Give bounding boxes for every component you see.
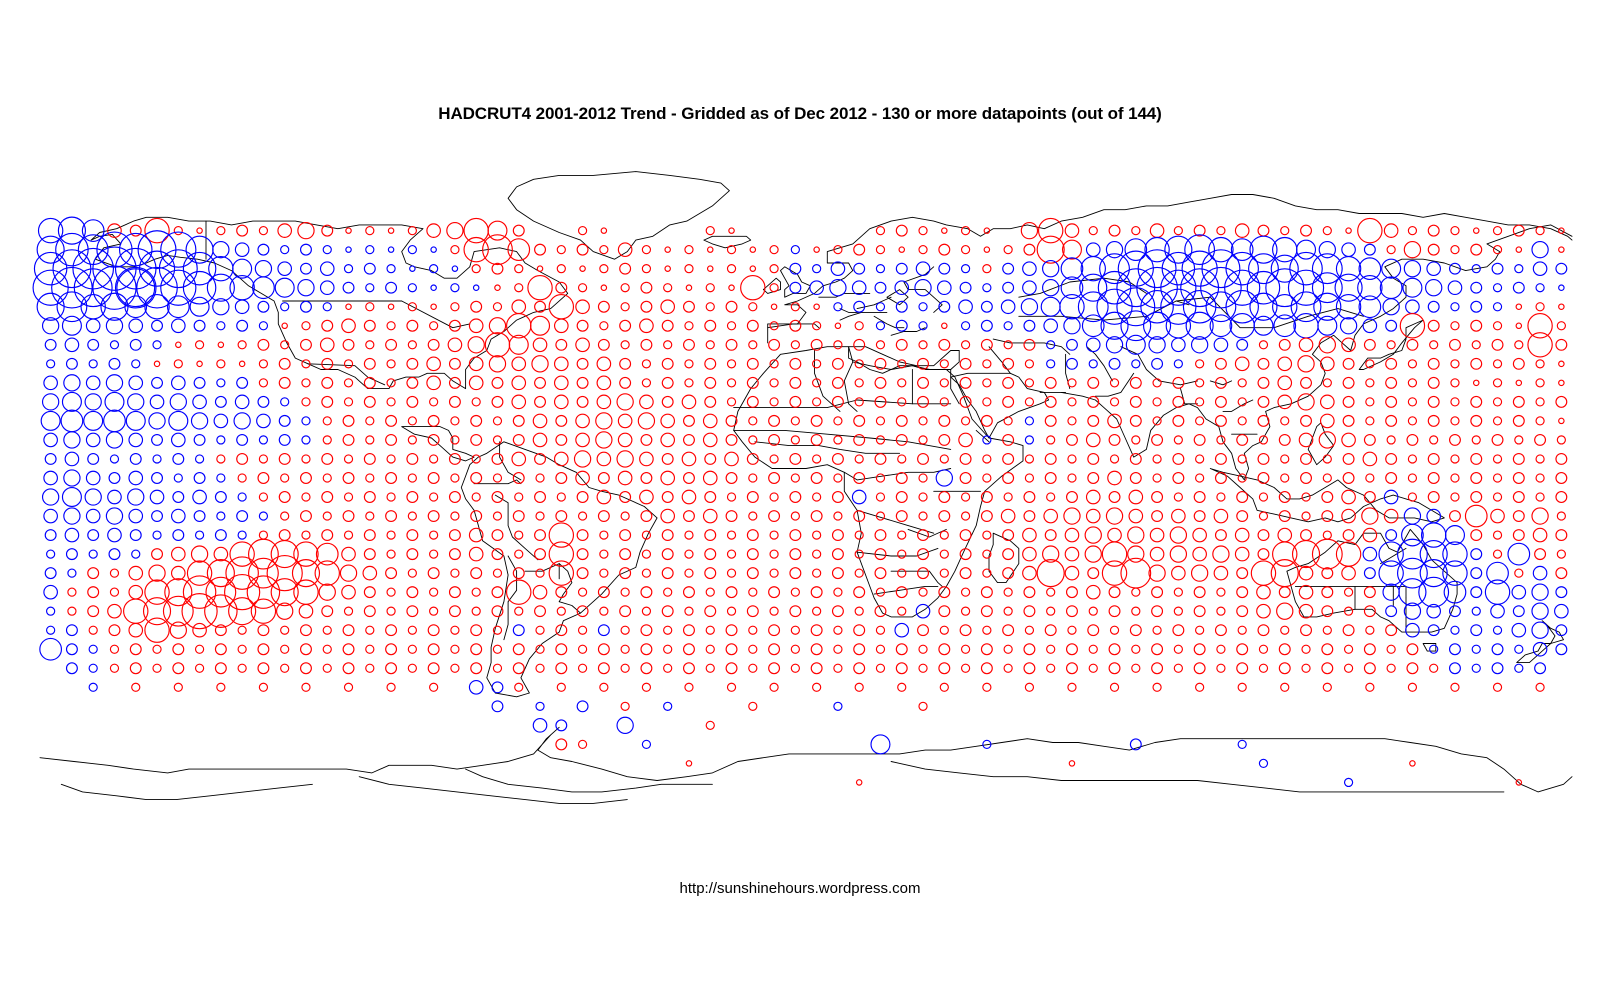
trend-bubble xyxy=(1110,683,1118,691)
trend-bubble xyxy=(1274,315,1296,337)
trend-bubble xyxy=(1515,341,1523,349)
trend-bubble xyxy=(1068,398,1076,406)
trend-bubble xyxy=(960,282,971,293)
trend-bubble xyxy=(1202,250,1240,288)
trend-bubble xyxy=(1130,416,1141,427)
trend-bubble xyxy=(641,339,652,350)
trend-bubble xyxy=(1025,455,1033,463)
trend-bubble xyxy=(279,377,290,388)
trend-bubble xyxy=(1516,304,1521,309)
trend-bubble xyxy=(110,645,118,653)
trend-bubble xyxy=(217,379,225,387)
trend-bubble xyxy=(1087,585,1101,599)
trend-bubble xyxy=(279,530,290,541)
trend-bubble xyxy=(875,568,886,579)
trend-bubble xyxy=(1322,511,1333,522)
trend-bubble xyxy=(344,379,352,387)
trend-bubble xyxy=(1536,417,1544,425)
trend-bubble xyxy=(1450,606,1461,617)
trend-bubble xyxy=(811,663,822,674)
trend-bubble xyxy=(895,623,909,637)
trend-bubble xyxy=(640,452,654,466)
trend-bubble xyxy=(729,228,734,233)
trend-bubble xyxy=(1088,454,1099,465)
trend-bubble xyxy=(62,488,81,507)
trend-bubble xyxy=(1003,625,1014,636)
trend-bubble xyxy=(1067,435,1078,446)
trend-bubble xyxy=(1216,473,1227,484)
trend-bubble xyxy=(813,531,821,539)
trend-bubble xyxy=(89,664,97,672)
trend-bubble xyxy=(1279,587,1290,598)
trend-bubble xyxy=(1471,320,1482,331)
trend-bubble xyxy=(981,663,992,674)
trend-bubble xyxy=(279,416,290,427)
trend-bubble xyxy=(513,625,524,636)
trend-bubble xyxy=(238,341,246,349)
trend-bubble xyxy=(876,626,884,634)
trend-bubble xyxy=(641,625,652,636)
trend-bubble xyxy=(1428,358,1439,369)
trend-bubble xyxy=(726,587,737,598)
trend-bubble xyxy=(705,454,716,465)
trend-bubble xyxy=(1474,228,1479,233)
trend-bubble xyxy=(1258,358,1269,369)
trend-bubble xyxy=(386,511,397,522)
trend-bubble xyxy=(577,530,588,541)
trend-bubble xyxy=(791,417,799,425)
trend-bubble xyxy=(1515,265,1523,273)
trend-bubble xyxy=(469,681,483,695)
trend-bubble xyxy=(1089,607,1097,615)
trend-bubble xyxy=(1249,254,1279,284)
trend-bubble xyxy=(1346,228,1351,233)
trend-bubble xyxy=(472,265,480,273)
trend-bubble xyxy=(149,565,165,581)
trend-bubble xyxy=(1516,323,1521,328)
trend-bubble xyxy=(364,530,375,541)
trend-bubble xyxy=(1427,262,1441,276)
trend-bubble xyxy=(323,645,331,653)
trend-bubble xyxy=(217,322,225,330)
trend-bubble xyxy=(1196,626,1204,634)
trend-bubble xyxy=(408,645,416,653)
trend-bubble xyxy=(1533,262,1547,276)
trend-bubble xyxy=(557,265,565,273)
trend-bubble xyxy=(1451,683,1459,691)
trend-bubble xyxy=(1408,379,1416,387)
trend-bubble xyxy=(1257,585,1271,599)
trend-bubble xyxy=(387,398,395,406)
trend-bubble xyxy=(258,244,269,255)
trend-bubble xyxy=(1516,247,1521,252)
trend-bubble xyxy=(302,417,310,425)
trend-bubble xyxy=(238,531,246,539)
trend-bubble xyxy=(916,604,930,618)
trend-bubble xyxy=(1430,645,1438,653)
trend-bubble xyxy=(1450,435,1461,446)
trend-bubble xyxy=(875,530,886,541)
trend-bubble xyxy=(230,276,254,300)
trend-bubble xyxy=(1386,377,1397,388)
trend-bubble xyxy=(298,280,314,296)
trend-bubble xyxy=(110,588,118,596)
trend-bubble xyxy=(556,644,567,655)
trend-bubble xyxy=(1364,568,1375,579)
trend-bubble xyxy=(1153,474,1161,482)
trend-bubble xyxy=(708,247,713,252)
trend-bubble xyxy=(152,473,163,484)
trend-bubble xyxy=(1471,587,1482,598)
trend-bubble xyxy=(642,569,650,577)
trend-bubble xyxy=(962,607,970,615)
trend-bubble xyxy=(1216,416,1227,427)
trend-bubble xyxy=(1109,492,1120,503)
trend-bubble xyxy=(196,531,204,539)
trend-bubble xyxy=(1471,454,1482,465)
trend-bubble xyxy=(1364,663,1375,674)
trend-bubble xyxy=(1384,224,1398,238)
trend-bubble xyxy=(1474,380,1479,385)
trend-bubble xyxy=(1065,566,1079,580)
trend-bubble xyxy=(1532,603,1548,619)
trend-bubble xyxy=(173,492,184,503)
trend-bubble xyxy=(750,247,755,252)
trend-bubble xyxy=(386,282,397,293)
trend-bubble xyxy=(1512,623,1526,637)
trend-bubble xyxy=(1340,318,1356,334)
trend-bubble xyxy=(576,414,590,428)
trend-bubble xyxy=(153,341,161,349)
trend-bubble xyxy=(685,683,693,691)
trend-bubble xyxy=(302,379,310,387)
trend-bubble xyxy=(960,377,971,388)
trend-bubble xyxy=(1557,322,1565,330)
trend-bubble xyxy=(1173,454,1184,465)
trend-bubble xyxy=(1450,339,1461,350)
trend-bubble xyxy=(1536,493,1544,501)
trend-bubble xyxy=(44,376,58,390)
trend-bubble xyxy=(962,265,970,273)
trend-bubble xyxy=(811,416,822,427)
trend-bubble xyxy=(1138,250,1176,288)
trend-bubble xyxy=(770,322,778,330)
trend-bubble xyxy=(346,304,351,309)
trend-bubble xyxy=(1387,664,1395,672)
trend-bubble xyxy=(875,454,886,465)
trend-bubble xyxy=(366,436,374,444)
trend-bubble xyxy=(813,493,821,501)
trend-bubble xyxy=(617,717,633,733)
trend-bubble xyxy=(727,683,735,691)
trend-bubble xyxy=(1132,360,1140,368)
trend-bubble xyxy=(1386,530,1397,541)
trend-bubble xyxy=(109,473,120,484)
trend-bubble xyxy=(85,489,101,505)
trend-bubble xyxy=(791,303,799,311)
trend-bubble xyxy=(830,280,846,296)
trend-bubble xyxy=(1132,227,1140,235)
trend-bubble xyxy=(1004,664,1012,672)
trend-bubble xyxy=(214,547,228,561)
trend-bubble xyxy=(617,451,633,467)
trend-bubble xyxy=(962,341,970,349)
trend-bubble xyxy=(1301,625,1312,636)
trend-bubble xyxy=(431,247,436,252)
trend-bubble xyxy=(154,361,159,366)
trend-bubble xyxy=(1472,645,1480,653)
trend-bubble xyxy=(896,644,907,655)
trend-bubble xyxy=(217,474,225,482)
trend-bubble xyxy=(1366,626,1374,634)
trend-bubble xyxy=(259,322,267,330)
trend-bubble xyxy=(170,394,186,410)
trend-bubble xyxy=(1557,436,1565,444)
trend-bubble xyxy=(685,607,693,615)
trend-bubble xyxy=(64,432,80,448)
trend-bubble xyxy=(282,323,287,328)
trend-bubble xyxy=(556,435,567,446)
trend-bubble xyxy=(316,543,338,565)
trend-bubble xyxy=(942,323,947,328)
trend-bubble xyxy=(1428,416,1439,427)
trend-bubble xyxy=(834,645,842,653)
trend-bubble xyxy=(618,414,632,428)
trend-bubble xyxy=(237,435,248,446)
trend-bubble xyxy=(833,530,844,541)
trend-bubble xyxy=(1536,455,1544,463)
trend-bubble-layer xyxy=(33,217,1568,786)
trend-bubble xyxy=(1404,242,1420,258)
trend-bubble xyxy=(512,300,526,314)
trend-bubble xyxy=(37,236,64,263)
trend-bubble xyxy=(343,663,354,674)
trend-bubble xyxy=(919,246,927,254)
trend-bubble xyxy=(237,454,248,465)
trend-bubble xyxy=(173,454,184,465)
trend-bubble xyxy=(1170,527,1186,543)
trend-bubble xyxy=(1258,416,1269,427)
trend-bubble xyxy=(1386,396,1397,407)
trend-bubble xyxy=(430,550,438,558)
trend-bubble xyxy=(387,531,395,539)
trend-bubble xyxy=(770,284,778,292)
trend-bubble xyxy=(194,511,205,522)
trend-bubble xyxy=(302,455,310,463)
trend-bubble xyxy=(322,377,333,388)
trend-bubble xyxy=(854,644,865,655)
trend-bubble xyxy=(1450,511,1461,522)
trend-bubble xyxy=(1003,396,1014,407)
trend-bubble xyxy=(791,512,799,520)
trend-bubble xyxy=(939,492,950,503)
trend-bubble xyxy=(1238,683,1246,691)
trend-bubble xyxy=(682,452,696,466)
trend-bubble xyxy=(919,227,927,235)
trend-bubble xyxy=(1364,339,1375,350)
trend-bubble xyxy=(769,339,780,350)
trend-bubble xyxy=(44,509,58,523)
trend-bubble xyxy=(641,644,652,655)
trend-bubble xyxy=(1343,396,1354,407)
trend-bubble xyxy=(45,568,56,579)
trend-bubble xyxy=(366,303,374,311)
trend-bubble xyxy=(1513,492,1524,503)
trend-bubble xyxy=(47,607,55,615)
trend-bubble xyxy=(1088,377,1099,388)
trend-bubble xyxy=(1237,663,1248,674)
trend-bubble xyxy=(960,568,971,579)
trend-bubble xyxy=(44,433,58,447)
trend-bubble xyxy=(708,266,713,271)
trend-bubble xyxy=(791,588,799,596)
trend-bubble xyxy=(1257,604,1271,618)
trend-bubble xyxy=(557,246,565,254)
trend-bubble xyxy=(536,626,544,634)
trend-bubble xyxy=(598,511,609,522)
trend-bubble xyxy=(1217,664,1225,672)
trend-bubble xyxy=(1043,280,1059,296)
trend-bubble xyxy=(1493,246,1501,254)
trend-bubble xyxy=(834,626,842,634)
trend-bubble xyxy=(852,281,866,295)
trend-bubble xyxy=(471,568,482,579)
trend-bubble xyxy=(790,396,801,407)
trend-bubble xyxy=(104,410,126,432)
trend-bubble xyxy=(259,683,267,691)
trend-bubble xyxy=(791,436,799,444)
trend-bubble xyxy=(259,512,267,520)
trend-bubble xyxy=(749,341,757,349)
trend-bubble xyxy=(1343,625,1354,636)
trend-bubble xyxy=(1513,358,1524,369)
trend-bubble xyxy=(749,303,757,311)
trend-bubble xyxy=(45,530,56,541)
trend-bubble xyxy=(532,356,548,372)
trend-bubble xyxy=(642,683,650,691)
trend-bubble xyxy=(983,569,991,577)
trend-bubble xyxy=(1193,528,1207,542)
trend-bubble xyxy=(662,568,673,579)
trend-bubble xyxy=(834,417,842,425)
trend-bubble xyxy=(1556,625,1567,636)
trend-bubble xyxy=(770,493,778,501)
trend-bubble xyxy=(1047,607,1055,615)
trend-bubble xyxy=(898,607,906,615)
trend-bubble xyxy=(600,569,608,577)
trend-bubble xyxy=(1359,296,1381,318)
trend-bubble xyxy=(507,580,531,604)
trend-bubble xyxy=(1025,417,1033,425)
trend-bubble xyxy=(1493,227,1501,235)
trend-bubble xyxy=(1297,240,1316,259)
trend-bubble xyxy=(515,607,523,615)
trend-bubble xyxy=(854,416,865,427)
trend-bubble xyxy=(1404,508,1420,524)
trend-bubble xyxy=(983,683,991,691)
trend-bubble xyxy=(770,607,778,615)
trend-bubble xyxy=(217,512,225,520)
trend-bubble xyxy=(811,644,822,655)
trend-bubble xyxy=(471,625,482,636)
trend-bubble xyxy=(238,493,246,501)
trend-bubble xyxy=(577,492,588,503)
trend-bubble xyxy=(618,471,632,485)
trend-bubble xyxy=(513,416,524,427)
trend-bubble xyxy=(132,360,140,368)
trend-bubble xyxy=(301,263,312,274)
trend-bubble xyxy=(430,607,438,615)
trend-bubble xyxy=(492,587,503,598)
trend-bubble xyxy=(301,663,312,674)
trend-bubble xyxy=(769,473,780,484)
trend-bubble xyxy=(1230,314,1254,338)
trend-bubble xyxy=(919,493,927,501)
trend-bubble xyxy=(238,626,246,634)
trend-bubble xyxy=(258,473,269,484)
trend-bubble xyxy=(343,282,354,293)
trend-bubble xyxy=(1366,398,1374,406)
trend-bubble xyxy=(813,607,821,615)
trend-bubble xyxy=(492,530,503,541)
trend-bubble xyxy=(855,683,863,691)
trend-bubble xyxy=(811,511,822,522)
trend-bubble xyxy=(172,547,186,561)
trend-bubble xyxy=(835,323,840,328)
trend-bubble xyxy=(44,585,58,599)
trend-bubble xyxy=(1428,320,1439,331)
trend-bubble xyxy=(549,523,573,547)
trend-bubble xyxy=(1024,511,1035,522)
trend-bubble xyxy=(174,683,182,691)
trend-bubble xyxy=(88,606,99,617)
trend-bubble xyxy=(1152,358,1163,369)
trend-bubble xyxy=(1217,493,1225,501)
trend-bubble xyxy=(1513,396,1524,407)
trend-bubble xyxy=(962,246,970,254)
trend-bubble xyxy=(196,645,204,653)
trend-bubble xyxy=(1132,607,1140,615)
trend-bubble xyxy=(407,454,418,465)
trend-bubble xyxy=(106,432,122,448)
trend-bubble xyxy=(366,284,374,292)
trend-bubble xyxy=(983,379,991,387)
trend-bubble xyxy=(323,664,331,672)
trend-bubble xyxy=(555,357,569,371)
trend-bubble xyxy=(152,320,163,331)
trend-bubble xyxy=(1110,398,1118,406)
trend-bubble xyxy=(408,569,416,577)
trend-bubble xyxy=(1108,528,1122,542)
trend-bubble xyxy=(1322,663,1333,674)
trend-bubble xyxy=(749,626,757,634)
trend-bubble xyxy=(1513,225,1524,236)
trend-bubble xyxy=(981,339,992,350)
trend-bubble xyxy=(68,569,76,577)
trend-bubble xyxy=(1493,493,1501,501)
trend-bubble xyxy=(682,490,696,504)
trend-bubble xyxy=(1407,435,1418,446)
trend-bubble xyxy=(621,588,629,596)
trend-bubble xyxy=(1237,492,1248,503)
trend-bubble xyxy=(896,320,907,331)
trend-bubble xyxy=(642,265,650,273)
trend-bubble xyxy=(364,492,375,503)
trend-bubble xyxy=(962,227,970,235)
trend-bubble xyxy=(173,663,184,674)
trend-bubble xyxy=(44,471,58,485)
trend-bubble xyxy=(1407,339,1418,350)
